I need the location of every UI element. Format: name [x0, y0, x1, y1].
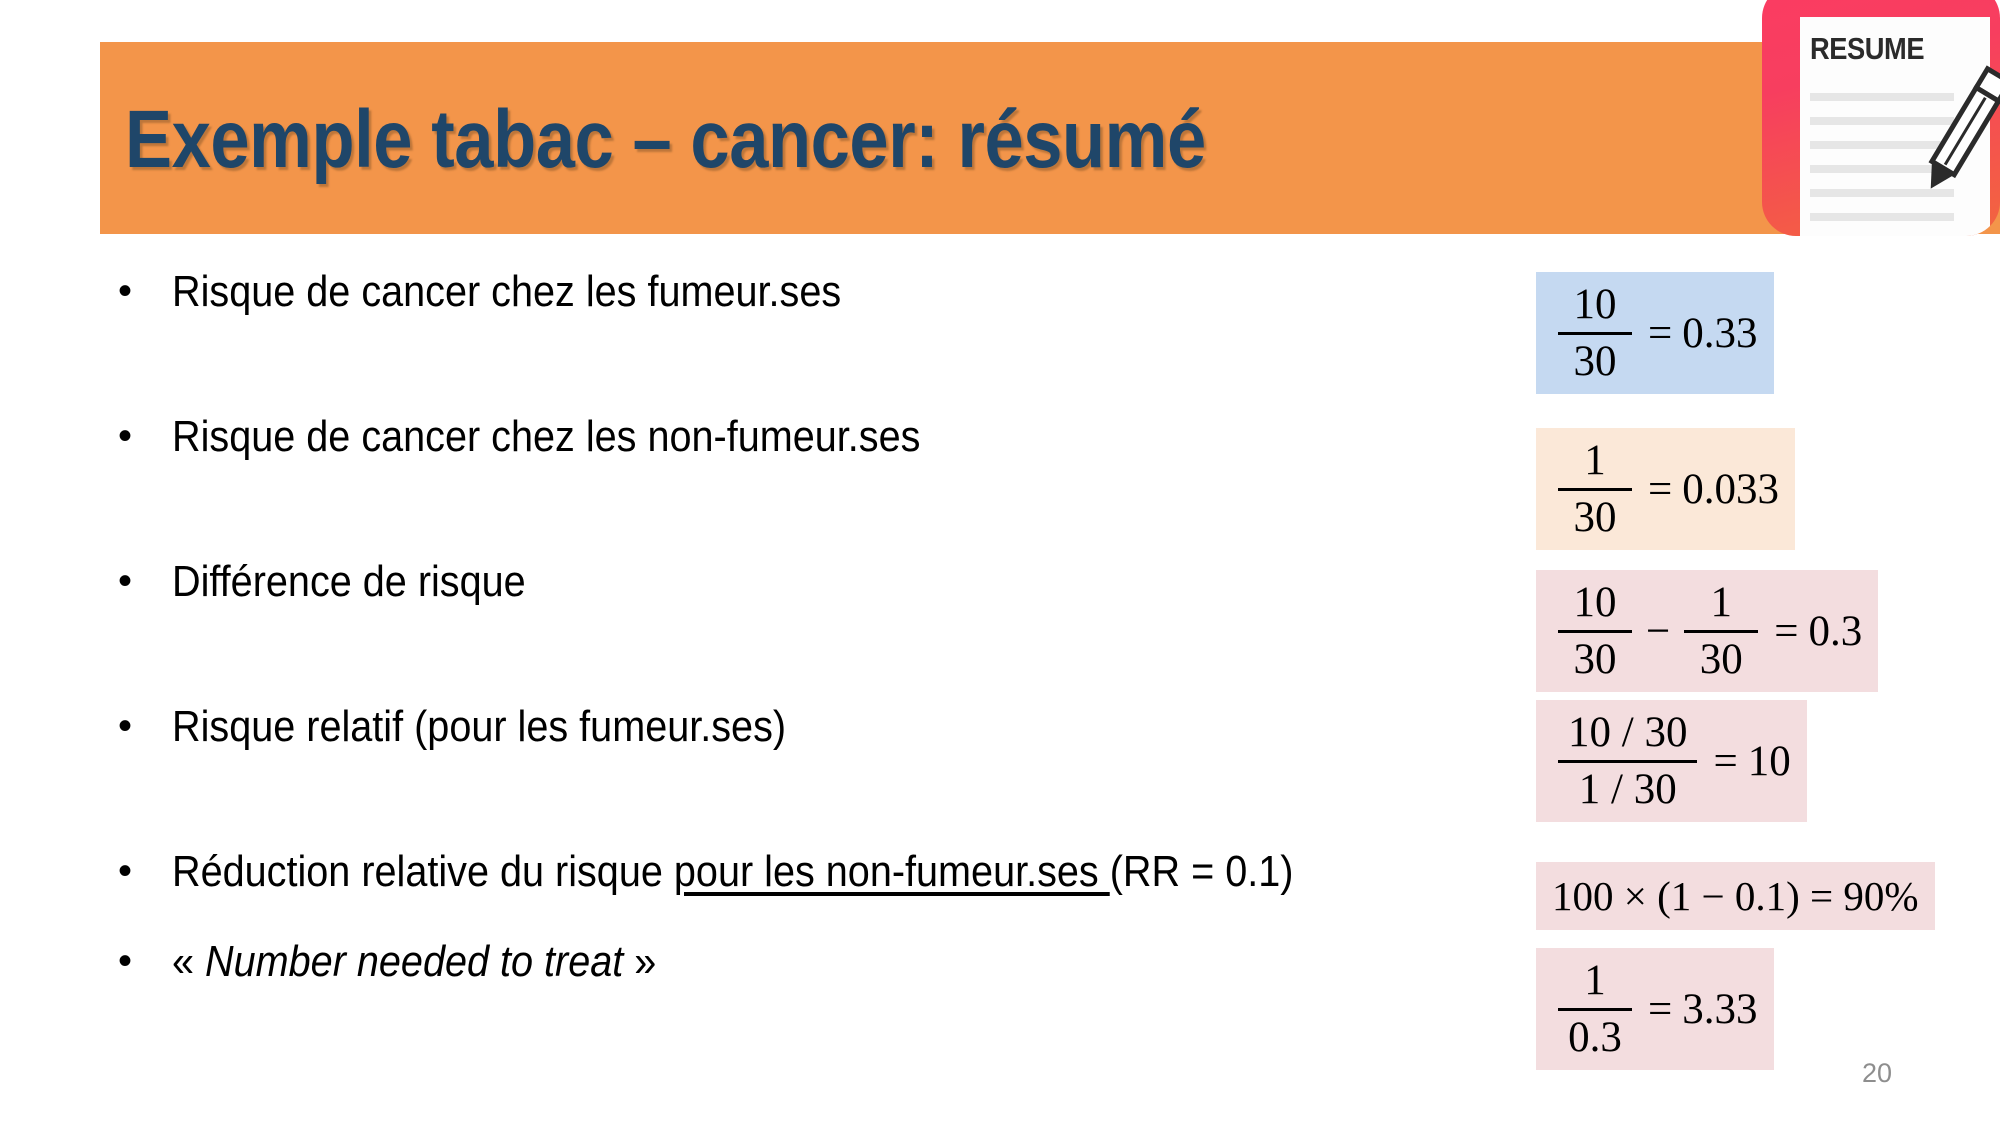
list-item-label: Réduction relative du risque pour les no…	[172, 850, 1293, 894]
list-item-label-suffix: (RR = 0.1)	[1110, 847, 1294, 896]
list-item: • Différence de risque	[118, 560, 565, 604]
resume-text-line	[1810, 117, 1954, 125]
pencil-icon	[1908, 61, 2000, 201]
resume-icon: RESUME	[1762, 0, 2000, 236]
list-item-label-prefix: Réduction relative du risque	[172, 847, 674, 896]
resume-document-page: RESUME	[1800, 17, 1990, 236]
fraction-bar	[1558, 760, 1697, 763]
formula-risk-smokers: 10 30 = 0.33	[1536, 272, 1774, 394]
list-item: • Risque de cancer chez les non-fumeur.s…	[118, 415, 1004, 459]
list-item-label-underlined: pour les non-fumeur.ses	[674, 847, 1110, 896]
list-item-label: Différence de risque	[172, 560, 526, 604]
resume-text-line	[1810, 141, 1954, 149]
fraction-bar	[1558, 332, 1632, 335]
formula-result: 0.033	[1682, 465, 1779, 514]
formula-relative-risk: 10 / 30 1 / 30 = 10	[1536, 700, 1807, 822]
list-item: • Réduction relative du risque pour les …	[118, 850, 1418, 894]
equals-sign: =	[1713, 737, 1737, 786]
bullet-marker: •	[118, 705, 172, 747]
fraction: 1 0.3	[1558, 958, 1632, 1060]
bullet-marker: •	[118, 560, 172, 602]
formula-expression: 100 × (1 − 0.1) = 90%	[1552, 872, 1919, 920]
fraction-denominator: 1 / 30	[1569, 767, 1687, 813]
fraction: 10 30	[1558, 580, 1632, 682]
equals-sign: =	[1648, 985, 1672, 1034]
bullet-marker: •	[118, 415, 172, 457]
list-item-label: Risque de cancer chez les fumeur.ses	[172, 270, 841, 314]
list-item: • Risque de cancer chez les fumeur.ses	[118, 270, 916, 314]
list-item-label: Risque de cancer chez les non-fumeur.ses	[172, 415, 920, 459]
fraction-denominator: 30	[1564, 495, 1627, 541]
list-item: • Risque relatif (pour les fumeur.ses)	[118, 705, 854, 749]
resume-text-line	[1810, 93, 1954, 101]
formula-risk-nonsmokers: 1 30 = 0.033	[1536, 428, 1795, 550]
resume-icon-label: RESUME	[1810, 31, 1924, 67]
bullet-marker: •	[118, 270, 172, 312]
fraction-numerator: 10	[1564, 580, 1627, 626]
list-item-label-suffix: »	[623, 937, 656, 986]
list-item-label-italic: Number needed to treat	[205, 937, 623, 986]
resume-text-line	[1810, 165, 1954, 173]
equals-sign: =	[1648, 465, 1672, 514]
resume-text-line	[1810, 213, 1954, 221]
fraction: 10 30	[1558, 282, 1632, 384]
fraction-denominator: 30	[1564, 637, 1627, 683]
fraction: 10 / 30 1 / 30	[1558, 710, 1697, 812]
formula-risk-difference: 10 30 − 1 30 = 0.3	[1536, 570, 1878, 692]
page-title: Exemple tabac – cancer: résumé	[125, 70, 1501, 210]
bullet-marker: •	[118, 850, 172, 892]
fraction-bar	[1558, 1008, 1632, 1011]
fraction-numerator: 10	[1564, 282, 1627, 328]
list-item-label: Risque relatif (pour les fumeur.ses)	[172, 705, 786, 749]
bullet-marker: •	[118, 940, 172, 982]
fraction-numerator: 1	[1574, 958, 1616, 1004]
slide-canvas: Exemple tabac – cancer: résumé RESUME	[0, 0, 2000, 1125]
fraction-bar	[1684, 630, 1758, 633]
fraction-denominator: 0.3	[1558, 1015, 1632, 1061]
list-item-label: « Number needed to treat »	[172, 940, 656, 984]
slide-page-number: 20	[1862, 1058, 1892, 1089]
list-item-label-prefix: «	[172, 937, 205, 986]
fraction-denominator: 30	[1690, 637, 1753, 683]
fraction: 1 30	[1684, 580, 1758, 682]
formula-relative-risk-reduction: 100 × (1 − 0.1) = 90%	[1536, 862, 1935, 930]
fraction-bar	[1558, 630, 1632, 633]
fraction-numerator: 10 / 30	[1558, 710, 1697, 756]
fraction-denominator: 30	[1564, 339, 1627, 385]
fraction-numerator: 1	[1701, 580, 1743, 626]
formula-result: 10	[1748, 737, 1791, 786]
minus-sign: −	[1646, 607, 1670, 656]
resume-text-line	[1810, 189, 1954, 197]
equals-sign: =	[1774, 607, 1798, 656]
fraction: 1 30	[1558, 438, 1632, 540]
equals-sign: =	[1648, 309, 1672, 358]
formula-result: 0.33	[1682, 309, 1757, 358]
list-item: • « Number needed to treat »	[118, 940, 710, 984]
fraction-bar	[1558, 488, 1632, 491]
formula-result: 3.33	[1682, 985, 1757, 1034]
formula-result: 0.3	[1809, 607, 1863, 656]
fraction-numerator: 1	[1574, 438, 1616, 484]
formula-number-needed-to-treat: 1 0.3 = 3.33	[1536, 948, 1774, 1070]
